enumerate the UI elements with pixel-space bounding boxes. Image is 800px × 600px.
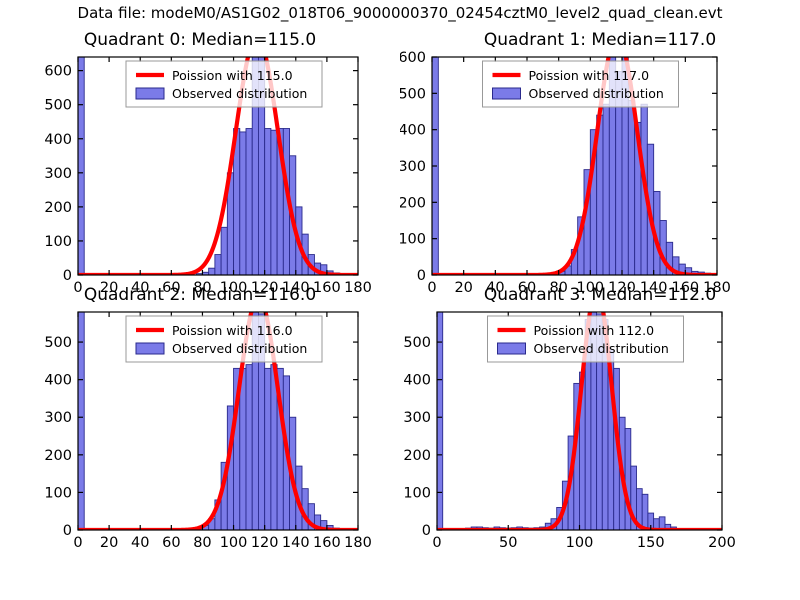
- legend-label-poisson: Poission with 116.0: [172, 323, 293, 338]
- panel-quadrant-0: Quadrant 0: Median=115.00204060801001201…: [0, 30, 400, 315]
- legend-label-poisson: Poission with 115.0: [172, 68, 293, 83]
- panel-quadrant-3: Quadrant 3: Median=112.00501001502000100…: [400, 285, 800, 570]
- y-tick-label: 200: [403, 448, 431, 464]
- y-tick-label: 0: [417, 268, 426, 284]
- x-tick-label: 80: [193, 535, 211, 551]
- x-tick-label: 160: [313, 535, 341, 551]
- y-tick-label: 200: [44, 448, 72, 464]
- legend[interactable]: Poission with 115.0Observed distribution: [126, 61, 322, 107]
- plot-quadrant-0: 0204060801001201401601800100200300400500…: [0, 30, 400, 315]
- y-tick-label: 300: [44, 410, 72, 426]
- y-tick-label: 200: [400, 195, 426, 211]
- y-tick-label: 200: [44, 200, 72, 216]
- panel-title-quadrant-2: Quadrant 2: Median=116.0: [0, 285, 400, 305]
- legend[interactable]: Poission with 116.0Observed distribution: [126, 316, 322, 362]
- x-tick-label: 20: [100, 535, 118, 551]
- panel-quadrant-2: Quadrant 2: Median=116.00204060801001201…: [0, 285, 400, 570]
- plot-quadrant-1: 0204060801001201401601800100200300400500…: [400, 30, 800, 315]
- y-tick-label: 400: [44, 373, 72, 389]
- y-tick-label: 500: [44, 98, 72, 114]
- legend-label-observed: Observed distribution: [172, 86, 307, 101]
- y-tick-label: 500: [44, 335, 72, 351]
- y-tick-label: 100: [44, 485, 72, 501]
- y-tick-label: 400: [400, 123, 426, 139]
- x-tick-label: 180: [344, 535, 372, 551]
- x-tick-label: 50: [499, 535, 517, 551]
- y-tick-label: 500: [403, 335, 431, 351]
- panel-title-quadrant-3: Quadrant 3: Median=112.0: [400, 285, 800, 305]
- legend-label-observed: Observed distribution: [172, 341, 307, 356]
- legend-label-observed: Observed distribution: [529, 86, 664, 101]
- y-tick-label: 300: [44, 166, 72, 182]
- x-tick-label: 40: [131, 535, 149, 551]
- y-tick-label: 0: [63, 523, 72, 539]
- legend-label-observed: Observed distribution: [534, 341, 669, 356]
- y-tick-label: 100: [44, 234, 72, 250]
- panel-title-quadrant-0: Quadrant 0: Median=115.0: [0, 30, 400, 50]
- panel-title-quadrant-1: Quadrant 1: Median=117.0: [400, 30, 800, 50]
- legend[interactable]: Poission with 117.0Observed distribution: [483, 61, 679, 107]
- y-tick-label: 600: [400, 50, 426, 66]
- legend-label-poisson: Poission with 117.0: [529, 68, 650, 83]
- y-tick-label: 100: [400, 232, 426, 248]
- y-tick-label: 300: [403, 410, 431, 426]
- plot-quadrant-2: 0204060801001201401601800100200300400500…: [0, 285, 400, 570]
- legend[interactable]: Poission with 112.0Observed distribution: [488, 316, 684, 362]
- y-tick-label: 100: [403, 485, 431, 501]
- y-tick-label: 400: [44, 132, 72, 148]
- y-tick-label: 400: [403, 373, 431, 389]
- y-tick-label: 500: [400, 86, 426, 102]
- x-tick-label: 0: [73, 535, 82, 551]
- x-tick-label: 60: [162, 535, 180, 551]
- y-tick-label: 0: [63, 268, 72, 284]
- y-tick-label: 0: [422, 523, 431, 539]
- legend-label-poisson: Poission with 112.0: [534, 323, 655, 338]
- x-tick-label: 0: [432, 535, 441, 551]
- figure-suptitle: Data file: modeM0/AS1G02_018T06_90000003…: [0, 4, 800, 22]
- figure-canvas: Data file: modeM0/AS1G02_018T06_90000003…: [0, 0, 800, 600]
- x-tick-label: 200: [708, 535, 736, 551]
- y-tick-label: 300: [400, 159, 426, 175]
- x-tick-label: 150: [637, 535, 665, 551]
- x-tick-label: 120: [251, 535, 279, 551]
- panel-quadrant-1: Quadrant 1: Median=117.00204060801001201…: [400, 30, 800, 315]
- x-tick-label: 100: [566, 535, 594, 551]
- y-tick-label: 600: [44, 64, 72, 80]
- x-tick-label: 140: [282, 535, 310, 551]
- plot-quadrant-3: 0501001502000100200300400500Poission wit…: [400, 285, 800, 570]
- x-tick-label: 100: [220, 535, 248, 551]
